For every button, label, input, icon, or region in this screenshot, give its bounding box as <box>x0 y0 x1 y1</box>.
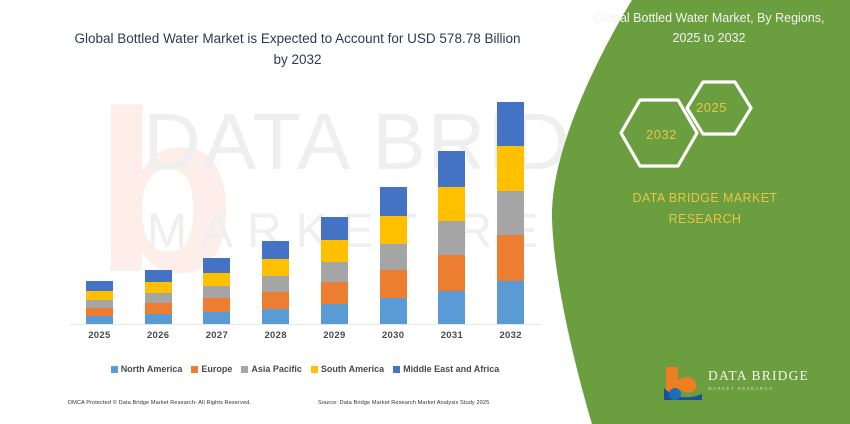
bar-segment <box>438 291 465 324</box>
plot-area <box>70 90 540 325</box>
x-axis-line <box>70 324 540 325</box>
bar-segment <box>145 270 172 282</box>
bar-2028 <box>262 241 289 324</box>
bar-segment <box>145 293 172 303</box>
bar-2026 <box>145 270 172 324</box>
brand-name-line-1: DATA BRIDGE MARKET <box>580 188 830 209</box>
bar-segment <box>203 273 230 286</box>
legend-label: Asia Pacific <box>251 364 302 374</box>
bar-segment <box>321 304 348 324</box>
bar-segment <box>262 309 289 324</box>
x-axis-label-2031: 2031 <box>427 330 477 348</box>
bar-segment <box>380 298 407 324</box>
bar-segment <box>86 291 113 300</box>
bar-segment <box>262 259 289 276</box>
bar-segment <box>438 221 465 255</box>
bar-segment <box>321 240 348 262</box>
bar-segment <box>203 298 230 312</box>
bar-segment <box>497 146 524 191</box>
bar-segment <box>380 216 407 244</box>
logo-wordmark: DATA BRIDGE MARKET RESEARCH <box>708 368 809 391</box>
hexagon-label-2032: 2032 <box>646 127 677 142</box>
brand-name: DATA BRIDGE MARKET RESEARCH <box>580 188 830 230</box>
chart-headline: Global Bottled Water Market is Expected … <box>70 28 525 70</box>
legend-swatch-icon <box>191 366 198 373</box>
x-axis-label-2030: 2030 <box>368 330 418 348</box>
bar-segment <box>145 282 172 293</box>
bar-segment <box>86 300 113 308</box>
legend-item[interactable]: North America <box>111 364 183 374</box>
bar-2030 <box>380 187 407 324</box>
bar-segment <box>203 312 230 324</box>
brand-name-line-2: RESEARCH <box>580 209 830 230</box>
logo-name: DATA BRIDGE <box>708 368 809 384</box>
x-axis-label-2029: 2029 <box>309 330 359 348</box>
bar-segment <box>86 281 113 291</box>
legend-item[interactable]: Europe <box>191 364 232 374</box>
legend-swatch-icon <box>241 366 248 373</box>
bar-segment <box>321 262 348 282</box>
brand-panel: Global Bottled Water Market, By Regions,… <box>540 0 850 424</box>
bar-segment <box>262 276 289 292</box>
bar-2031 <box>438 151 465 324</box>
bar-segment <box>203 258 230 273</box>
bar-2029 <box>321 217 348 324</box>
hexagon-label-2025: 2025 <box>696 100 727 115</box>
bar-segment <box>497 191 524 235</box>
legend-swatch-icon <box>311 366 318 373</box>
legend-swatch-icon <box>111 366 118 373</box>
bar-segment <box>438 151 465 187</box>
bar-series-container <box>70 90 540 324</box>
bar-segment <box>380 270 407 298</box>
bar-segment <box>380 244 407 270</box>
chart-panel: b DATA BRIDGE MARKET RESEARCH Global Bot… <box>0 0 600 424</box>
bar-segment <box>438 255 465 291</box>
x-axis-labels: 20252026202720282029203020312032 <box>70 330 540 348</box>
legend-label: North America <box>121 364 183 374</box>
source-text: Source: Data Bridge Market Research Mark… <box>318 400 489 406</box>
legend-label: South America <box>321 364 384 374</box>
legend-item[interactable]: Middle East and Africa <box>393 364 499 374</box>
x-axis-label-2025: 2025 <box>74 330 124 348</box>
x-axis-label-2028: 2028 <box>251 330 301 348</box>
data-bridge-logo-icon <box>662 364 706 400</box>
bar-segment <box>86 308 113 316</box>
bar-segment <box>86 316 113 324</box>
bar-segment <box>438 187 465 221</box>
copyright-text: DMCA Protected © Data Bridge Market Rese… <box>68 400 251 406</box>
bar-segment <box>262 241 289 259</box>
bar-segment <box>145 303 172 314</box>
bar-segment <box>380 187 407 216</box>
company-logo: DATA BRIDGE MARKET RESEARCH <box>662 364 832 402</box>
bar-segment <box>497 235 524 281</box>
legend-item[interactable]: Asia Pacific <box>241 364 302 374</box>
chart-legend: North AmericaEuropeAsia PacificSouth Ame… <box>70 360 540 378</box>
bar-2025 <box>86 281 113 324</box>
legend-item[interactable]: South America <box>311 364 384 374</box>
bar-segment <box>497 281 524 324</box>
x-axis-label-2026: 2026 <box>133 330 183 348</box>
x-axis-label-2027: 2027 <box>192 330 242 348</box>
bar-segment <box>145 314 172 324</box>
legend-label: Europe <box>201 364 232 374</box>
logo-subtitle: MARKET RESEARCH <box>708 386 809 391</box>
bar-segment <box>321 282 348 304</box>
infographic-canvas: b DATA BRIDGE MARKET RESEARCH Global Bot… <box>0 0 850 424</box>
bar-2032 <box>497 102 524 324</box>
bar-segment <box>321 217 348 240</box>
bar-segment <box>497 102 524 146</box>
bar-segment <box>203 286 230 298</box>
bar-2027 <box>203 258 230 324</box>
chart <box>70 90 540 326</box>
x-axis-label-2032: 2032 <box>486 330 536 348</box>
legend-label: Middle East and Africa <box>403 364 499 374</box>
footer: DMCA Protected © Data Bridge Market Rese… <box>0 400 600 416</box>
legend-swatch-icon <box>393 366 400 373</box>
bar-segment <box>262 292 289 309</box>
hexagon-outline-icon <box>600 78 780 178</box>
